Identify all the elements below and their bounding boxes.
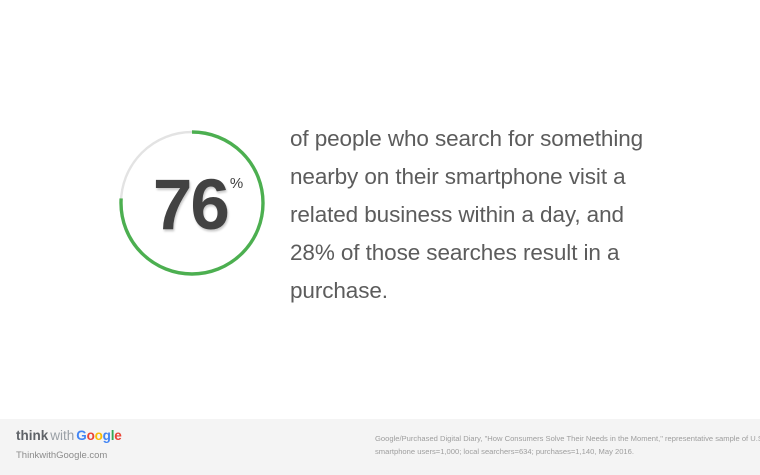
google-letter-g2: g bbox=[103, 428, 111, 443]
footer-bar: thinkwithGoogle ThinkwithGoogle.com Goog… bbox=[0, 419, 760, 475]
brand-google-wordmark: Google bbox=[76, 428, 121, 443]
google-letter-o1: o bbox=[87, 428, 95, 443]
slide-canvas: 76 % of people who search for something … bbox=[0, 0, 760, 419]
google-letter-e: e bbox=[114, 428, 121, 443]
donut-value: 76 bbox=[153, 170, 228, 241]
donut-chart: 76 % bbox=[117, 128, 267, 278]
source-citation-line: Google/Purchased Digital Diary, "How Con… bbox=[375, 432, 750, 445]
brand-url-link[interactable]: ThinkwithGoogle.com bbox=[16, 450, 122, 461]
brand-with-word: with bbox=[50, 428, 74, 443]
statement-line: related business within a day, and bbox=[290, 196, 650, 234]
brand-block: thinkwithGoogle ThinkwithGoogle.com bbox=[16, 429, 122, 461]
statement-line: nearby on their smartphone visit a bbox=[290, 158, 650, 196]
donut-percent-symbol: % bbox=[230, 176, 243, 191]
donut-center-label: 76 % bbox=[117, 128, 267, 278]
statement-line: 28% of those searches result in a bbox=[290, 234, 650, 272]
think-with-google-logo[interactable]: thinkwithGoogle bbox=[16, 429, 122, 443]
source-citation-line: smartphone users=1,000; local searchers=… bbox=[375, 445, 750, 458]
source-citation: Google/Purchased Digital Diary, "How Con… bbox=[375, 432, 750, 458]
statement-line: purchase. bbox=[290, 272, 650, 310]
statement-text: of people who search for something nearb… bbox=[290, 120, 650, 310]
google-letter-o2: o bbox=[95, 428, 103, 443]
brand-think-word: think bbox=[16, 428, 48, 443]
google-letter-g1: G bbox=[76, 428, 86, 443]
statement-line: of people who search for something bbox=[290, 120, 650, 158]
